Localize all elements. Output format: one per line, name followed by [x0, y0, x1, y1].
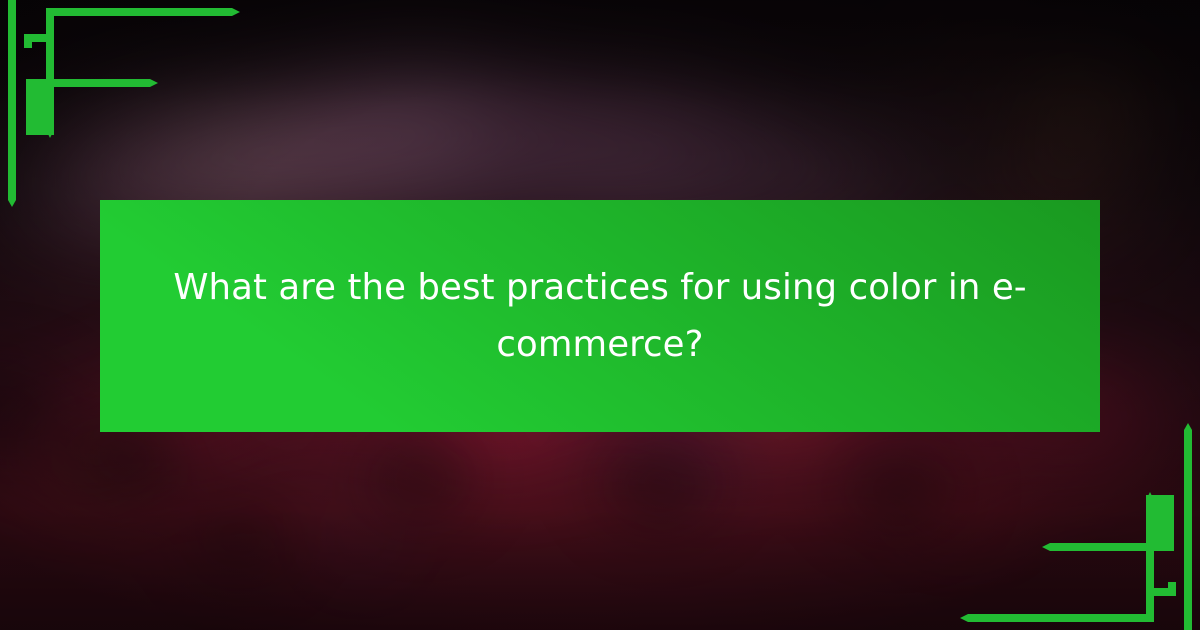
- question-banner: What are the best practices for using co…: [100, 200, 1100, 432]
- question-title: What are the best practices for using co…: [160, 259, 1040, 373]
- question-card-canvas: What are the best practices for using co…: [0, 0, 1200, 630]
